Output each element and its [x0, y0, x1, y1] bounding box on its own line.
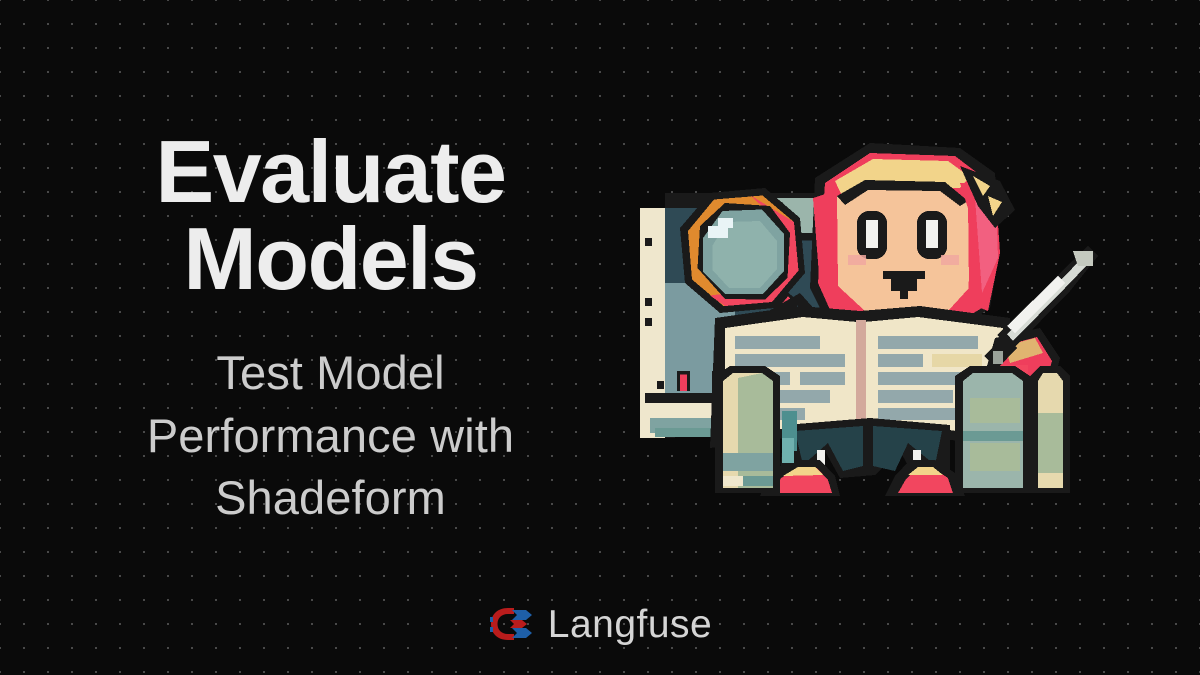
pixel-art-svg	[630, 138, 1100, 498]
furniture-left-block	[715, 366, 780, 493]
furniture-right-block	[955, 366, 1070, 493]
character-head	[810, 143, 1015, 328]
hero-text-block: Evaluate Models Test Model Performance w…	[58, 128, 603, 530]
page-title: Evaluate Models	[58, 128, 603, 302]
langfuse-logo-icon	[488, 604, 534, 644]
brand-footer: Langfuse	[0, 604, 1200, 644]
page-subtitle: Test Model Performance with Shadeform	[58, 302, 603, 530]
brand-name: Langfuse	[548, 605, 712, 644]
slide-canvas: Evaluate Models Test Model Performance w…	[0, 0, 1200, 675]
hero-illustration	[630, 138, 1100, 498]
